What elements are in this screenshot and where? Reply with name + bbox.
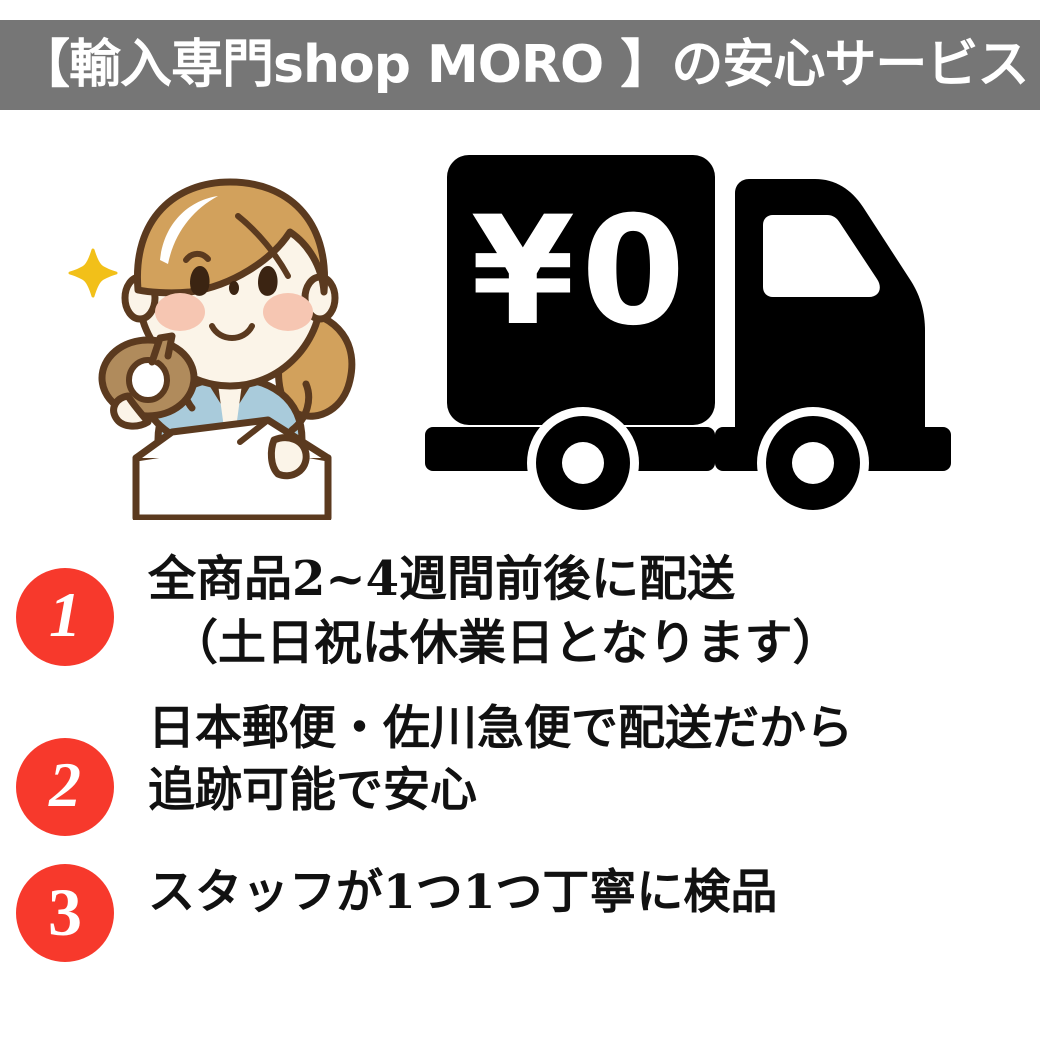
- service-point-text: 日本郵便・佐川急便で配送だから 追跡可能で安心: [114, 698, 1040, 823]
- service-point-text: スタッフが1つ1つ丁寧に検品: [114, 856, 1040, 925]
- header-bar: 【輸入専門shop MORO 】の安心サービス: [0, 20, 1040, 110]
- service-point-line: スタッフが1つ1つ丁寧に検品: [148, 862, 1040, 925]
- truck-wheel-rear-hub: [562, 442, 604, 484]
- staff-inspecting-package-illustration: [40, 140, 420, 520]
- service-point-line: 追跡可能で安心: [148, 760, 1040, 823]
- status-badge: 1: [16, 568, 114, 666]
- list-item: 2 日本郵便・佐川急便で配送だから 追跡可能で安心: [0, 698, 1040, 836]
- list-item: 1 全商品2~4週間前後に配送 （土日祝は休業日となります）: [0, 548, 1040, 676]
- sparkle-icon: [70, 250, 116, 296]
- truck-price-label: ¥0: [471, 185, 692, 359]
- page-title: 【輸入専門shop MORO 】の安心サービス: [0, 39, 1028, 91]
- cheek-right: [263, 293, 313, 331]
- illustration-row: ¥0: [0, 140, 1040, 530]
- nose: [229, 281, 239, 295]
- truck-svg: ¥0: [415, 145, 1005, 515]
- magnifier-glass: [129, 360, 167, 400]
- truck-wheel-front-hub: [792, 442, 834, 484]
- service-point-line: 全商品2~4週間前後に配送: [148, 548, 1040, 612]
- service-point-line: （土日祝は休業日となります）: [148, 612, 1040, 676]
- service-points-list: 1 全商品2~4週間前後に配送 （土日祝は休業日となります） 2 日本郵便・佐川…: [0, 548, 1040, 962]
- cheek-left: [155, 293, 205, 331]
- staff-illustration-svg: [40, 140, 420, 520]
- list-item: 3 スタッフが1つ1つ丁寧に検品: [0, 856, 1040, 962]
- service-point-line: 日本郵便・佐川急便で配送だから: [148, 698, 1040, 761]
- hand-right: [271, 438, 306, 476]
- promo-banner: 【輸入専門shop MORO 】の安心サービス: [0, 0, 1040, 1040]
- free-shipping-truck-illustration: ¥0: [415, 145, 1005, 515]
- service-point-text: 全商品2~4週間前後に配送 （土日祝は休業日となります）: [114, 548, 1040, 676]
- status-badge: 3: [16, 864, 114, 962]
- status-badge: 2: [16, 738, 114, 836]
